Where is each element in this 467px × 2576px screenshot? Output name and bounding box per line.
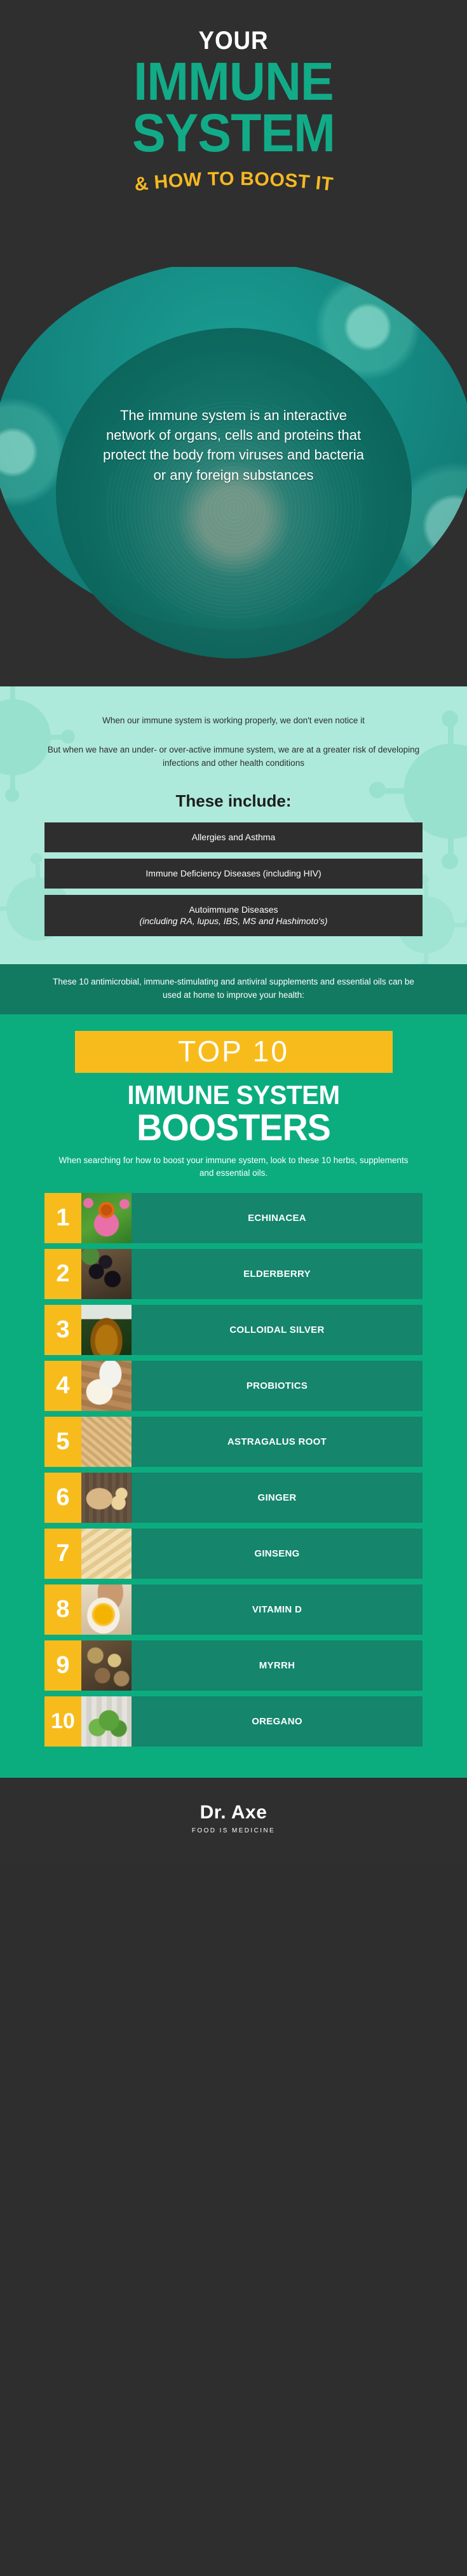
header-subtitle-arc: & HOW TO BOOST IT — [0, 167, 467, 200]
condition-box: Allergies and Asthma — [44, 822, 423, 852]
condition-note: (including RA, lupus, IBS, MS and Hashim… — [51, 915, 416, 927]
ginger-photo — [81, 1473, 132, 1523]
inner-cell-ellipse — [56, 328, 412, 658]
definition-text: The immune system is an interactive netw… — [97, 405, 370, 485]
booster-number: 2 — [44, 1249, 81, 1299]
booster-label: COLLOIDAL SILVER — [132, 1305, 423, 1355]
booster-label: VITAMIN D — [132, 1584, 423, 1635]
top10-subtitle: When searching for how to boost your imm… — [56, 1154, 412, 1179]
elderberry-photo — [81, 1249, 132, 1299]
booster-number: 9 — [44, 1640, 81, 1691]
these-include-heading: These include: — [0, 791, 467, 811]
condition-label: Allergies and Asthma — [192, 832, 276, 842]
header-section: YOUR IMMUNE SYSTEM & HOW TO BOOST IT — [0, 0, 467, 267]
booster-label: ASTRAGALUS ROOT — [132, 1417, 423, 1467]
booster-row: 7 GINSENG — [44, 1529, 423, 1579]
condition-label: Autoimmune Diseases — [189, 904, 278, 915]
vitamin-d-photo — [81, 1584, 132, 1635]
top10-badge: TOP 10 — [75, 1031, 393, 1073]
echinacea-photo — [81, 1193, 132, 1243]
colloidal-silver-photo — [81, 1305, 132, 1355]
booster-label: ECHINACEA — [132, 1193, 423, 1243]
booster-row: 5 ASTRAGALUS ROOT — [44, 1417, 423, 1467]
top10-title-line1: IMMUNE SYSTEM — [10, 1082, 458, 1108]
booster-number: 8 — [44, 1584, 81, 1635]
booster-row: 10 OREGANO — [44, 1696, 423, 1747]
footer-section: Dr. Axe FOOD IS MEDICINE — [0, 1778, 467, 1864]
intro-paragraph-1: When our immune system is working proper… — [43, 686, 424, 727]
probiotics-photo — [81, 1361, 132, 1411]
definition-section: The immune system is an interactive netw… — [0, 267, 467, 686]
booster-number: 6 — [44, 1473, 81, 1523]
infographic-page: YOUR IMMUNE SYSTEM & HOW TO BOOST IT The… — [0, 0, 467, 1864]
booster-label: GINGER — [132, 1473, 423, 1523]
top10-title-line2: BOOSTERS — [10, 1110, 458, 1147]
booster-row: 1 ECHINACEA — [44, 1193, 423, 1243]
booster-number: 5 — [44, 1417, 81, 1467]
conditions-list: Allergies and Asthma Immune Deficiency D… — [44, 822, 423, 937]
booster-row: 2 ELDERBERRY — [44, 1249, 423, 1299]
booster-row: 9 MYRRH — [44, 1640, 423, 1691]
booster-label: ELDERBERRY — [132, 1249, 423, 1299]
booster-row: 3 COLLOIDAL SILVER — [44, 1305, 423, 1355]
booster-number: 4 — [44, 1361, 81, 1411]
myrrh-photo — [81, 1640, 132, 1691]
astragalus-root-photo — [81, 1417, 132, 1467]
booster-number: 10 — [44, 1696, 81, 1747]
arced-text-svg: & HOW TO BOOST IT — [56, 167, 412, 205]
booster-label: GINSENG — [132, 1529, 423, 1579]
intro-paragraph-2: But when we have an under- or over-activ… — [43, 727, 424, 770]
booster-row: 4 PROBIOTICS — [44, 1361, 423, 1411]
booster-label: OREGANO — [132, 1696, 423, 1747]
booster-label: MYRRH — [132, 1640, 423, 1691]
top10-section: TOP 10 IMMUNE SYSTEM BOOSTERS When searc… — [0, 1014, 467, 1778]
condition-box: Immune Deficiency Diseases (including HI… — [44, 859, 423, 889]
booster-number: 7 — [44, 1529, 81, 1579]
condition-label: Immune Deficiency Diseases (including HI… — [146, 868, 321, 878]
conditions-section: When our immune system is working proper… — [0, 686, 467, 964]
header-line-system: SYSTEM — [14, 107, 453, 159]
header-line-boost: & HOW TO BOOST IT — [133, 168, 334, 195]
condition-box: Autoimmune Diseases (including RA, lupus… — [44, 895, 423, 937]
footer-tagline: FOOD IS MEDICINE — [0, 1827, 467, 1834]
booster-row: 6 GINGER — [44, 1473, 423, 1523]
banner-text: These 10 antimicrobial, immune-stimulati… — [43, 976, 424, 1002]
ginseng-photo — [81, 1529, 132, 1579]
header-line-immune: IMMUNE — [14, 56, 453, 107]
oregano-photo — [81, 1696, 132, 1747]
header-line-your: YOUR — [18, 0, 448, 53]
boosters-list: 1 ECHINACEA 2 ELDERBERRY 3 COLLOIDAL SIL… — [0, 1179, 467, 1756]
booster-row: 8 VITAMIN D — [44, 1584, 423, 1635]
booster-number: 3 — [44, 1305, 81, 1355]
dr-axe-logo: Dr. Axe — [0, 1803, 467, 1822]
banner-section: These 10 antimicrobial, immune-stimulati… — [0, 964, 467, 1014]
booster-label: PROBIOTICS — [132, 1361, 423, 1411]
booster-number: 1 — [44, 1193, 81, 1243]
